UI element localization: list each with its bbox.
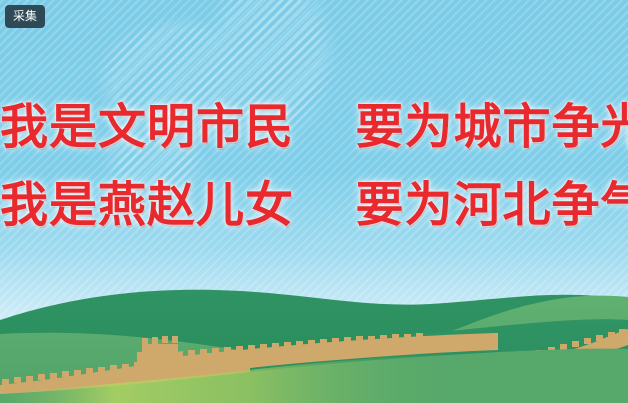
slogan-line-2-left: 我是燕赵儿女 <box>0 177 294 233</box>
capture-button[interactable]: 采集 <box>5 5 45 28</box>
great-wall-tower-left-upper <box>142 344 178 356</box>
slogan-line-2-right: 要为河北争气 <box>355 177 628 233</box>
slogan-block: 我是文明市民 要为城市争光 我是燕赵儿女 要为河北争气 <box>0 88 628 244</box>
slogan-line-1-left: 我是文明市民 <box>0 99 294 155</box>
slogan-line-1: 我是文明市民 要为城市争光 <box>0 88 628 166</box>
banner-screenshot: 我是文明市民 要为城市争光 我是燕赵儿女 要为河北争气 采集 <box>0 0 628 403</box>
slogan-line-2: 我是燕赵儿女 要为河北争气 <box>0 166 628 244</box>
slogan-line-1-right: 要为城市争光 <box>355 99 628 155</box>
